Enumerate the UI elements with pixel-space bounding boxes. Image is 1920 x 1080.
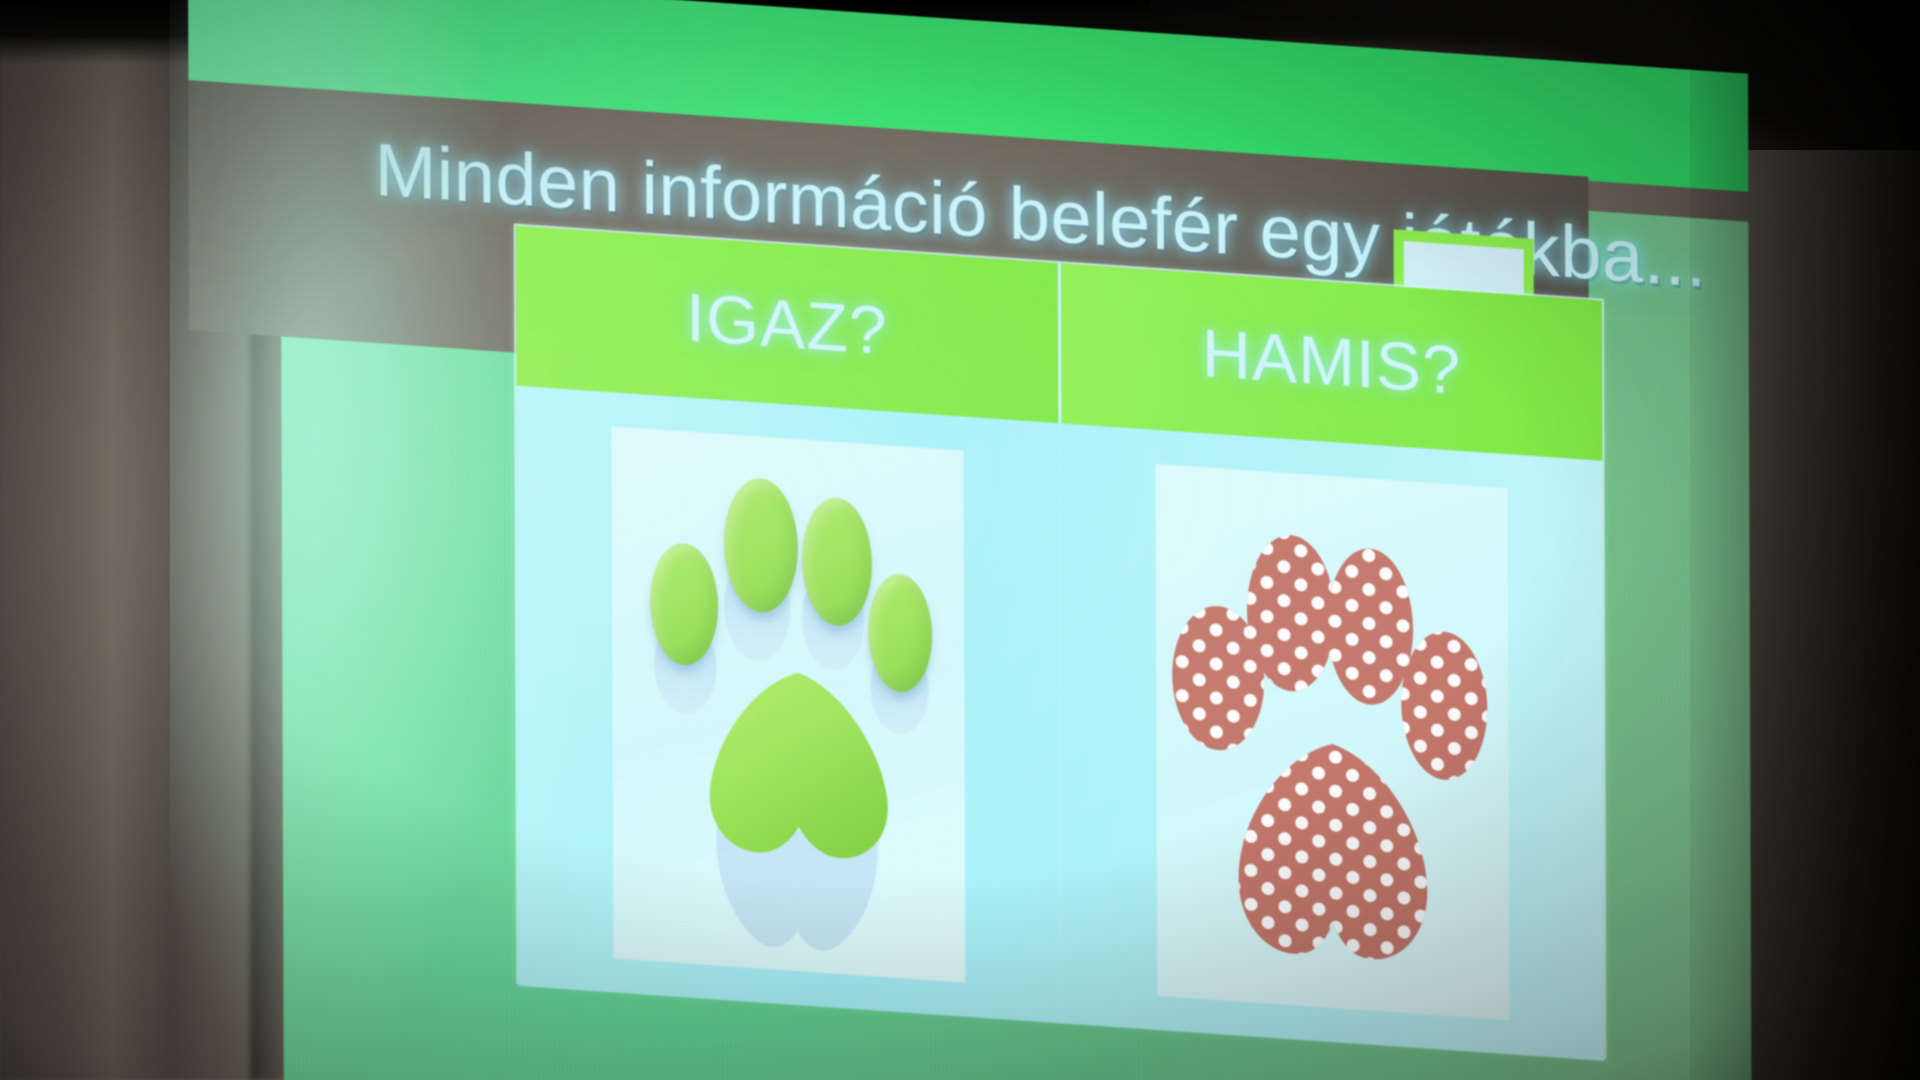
photo-canvas: Minden információ belefér egy játékba...: [0, 0, 1920, 1080]
pink-paw-heart-pad: [1231, 729, 1437, 973]
projection-screen: Minden információ belefér egy játékba...: [0, 0, 1920, 1080]
pink-paw-plate: [1155, 464, 1509, 1020]
green-paw-print-icon: [612, 426, 966, 982]
comparison-table: IGAZ? HAMIS?: [514, 224, 1607, 1059]
slide: Minden információ belefér egy játékba...: [188, 0, 1752, 1080]
pink-polka-dot-paw-print-icon: [1155, 464, 1509, 1020]
header-label-hamis: HAMIS?: [1202, 314, 1461, 410]
table-cell-igaz: [516, 386, 1060, 1024]
header-label-igaz: IGAZ?: [686, 278, 888, 370]
paw-pad: [700, 664, 897, 868]
table-cell-hamis: [1058, 423, 1604, 1061]
green-paw-plate: [612, 426, 966, 982]
wall-shadow-right: [1690, 0, 1920, 1080]
table-body-row: [516, 386, 1604, 1061]
